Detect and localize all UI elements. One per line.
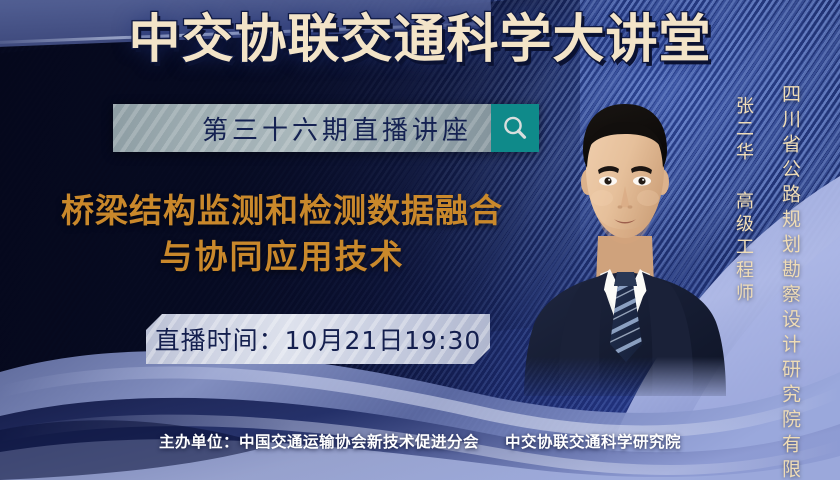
- lecture-headline: 桥梁结构监测和检测数据融合 与协同应用技术: [22, 188, 542, 279]
- episode-banner: 第三十六期直播讲座: [113, 104, 539, 152]
- search-icon-box[interactable]: [491, 104, 539, 152]
- speaker-photo: [520, 86, 730, 396]
- footer-prefix: 主办单位：: [159, 433, 239, 451]
- footer-organizers: 主办单位：中国交通运输协会新技术促进分会中交协联交通科学研究院: [0, 430, 840, 452]
- broadcast-time-label: 直播时间：10月21日19:30: [155, 321, 482, 357]
- episode-banner-body: 第三十六期直播讲座: [113, 104, 491, 152]
- page-title: 中交协联交通科学大讲堂: [0, 14, 840, 66]
- footer-organizer-2: 中交协联交通科学研究院: [505, 433, 681, 451]
- broadcast-time-badge: 直播时间：10月21日19:30: [146, 314, 490, 364]
- search-icon: [500, 113, 530, 143]
- live-lecture-poster: 中交协联交通科学大讲堂 第三十六期直播讲座 桥梁结构监测和检测数据融合 与协同应…: [0, 0, 840, 480]
- headline-line-2: 与协同应用技术: [22, 234, 542, 280]
- speaker-name-title: 张二华 高级工程师: [730, 96, 756, 306]
- episode-label: 第三十六期直播讲座: [132, 110, 472, 147]
- speaker-organization: 四川省公路规划勘察设计研究院有限公司: [777, 84, 804, 480]
- footer-organizer-1: 中国交通运输协会新技术促进分会: [239, 433, 479, 451]
- headline-line-1: 桥梁结构监测和检测数据融合: [22, 188, 542, 234]
